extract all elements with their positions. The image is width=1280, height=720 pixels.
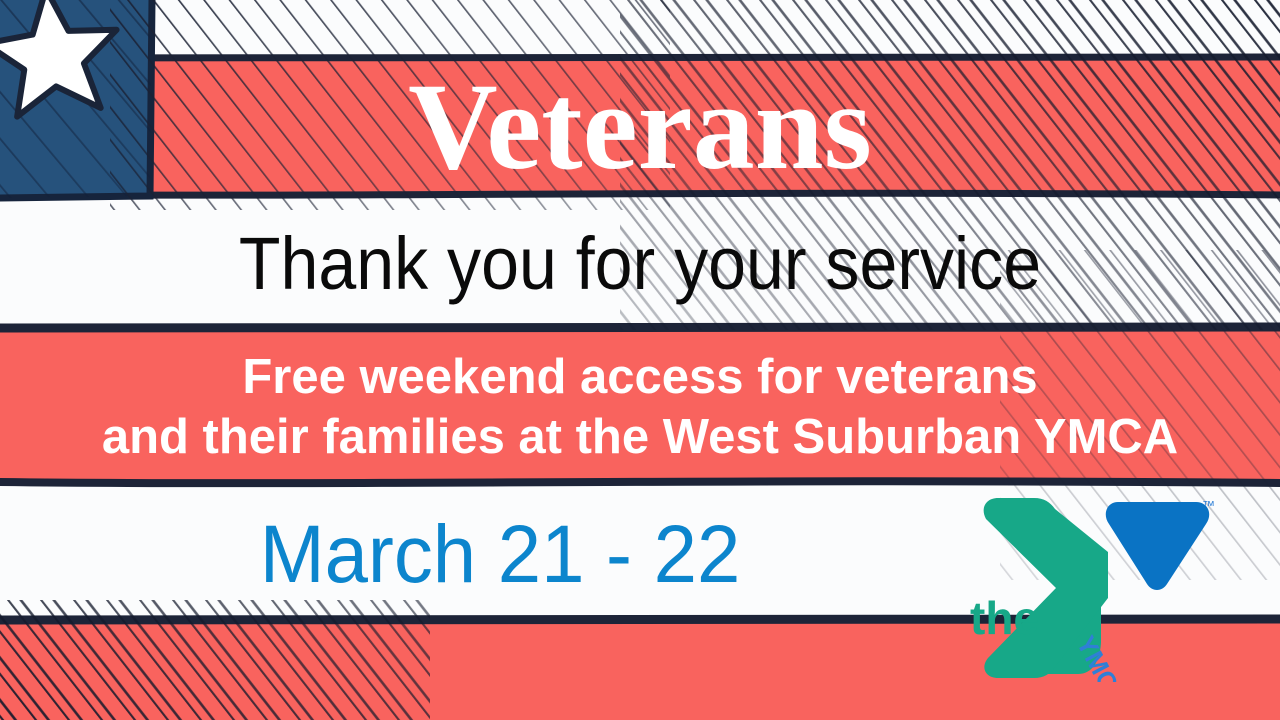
page-title: Veterans (0, 60, 1280, 194)
trademark-symbol: ™ (1202, 498, 1215, 513)
offer-line-2: and their families at the West Suburban … (102, 408, 1178, 468)
ymca-the-text: the (970, 592, 1039, 644)
subtitle-thank-you: Thank you for your service (51, 216, 1229, 312)
ymca-logo: the YMCA ™ (968, 492, 1218, 682)
offer-line-1: Free weekend access for veterans (242, 348, 1037, 408)
ymca-blue-triangle (1106, 502, 1209, 590)
offer-text-block: Free weekend access for veterans and the… (0, 334, 1280, 482)
event-dates: March 21 - 22 (25, 500, 975, 610)
veterans-promo-poster: Veterans Thank you for your service Free… (0, 0, 1280, 720)
hatch-bottom-left (0, 600, 430, 720)
